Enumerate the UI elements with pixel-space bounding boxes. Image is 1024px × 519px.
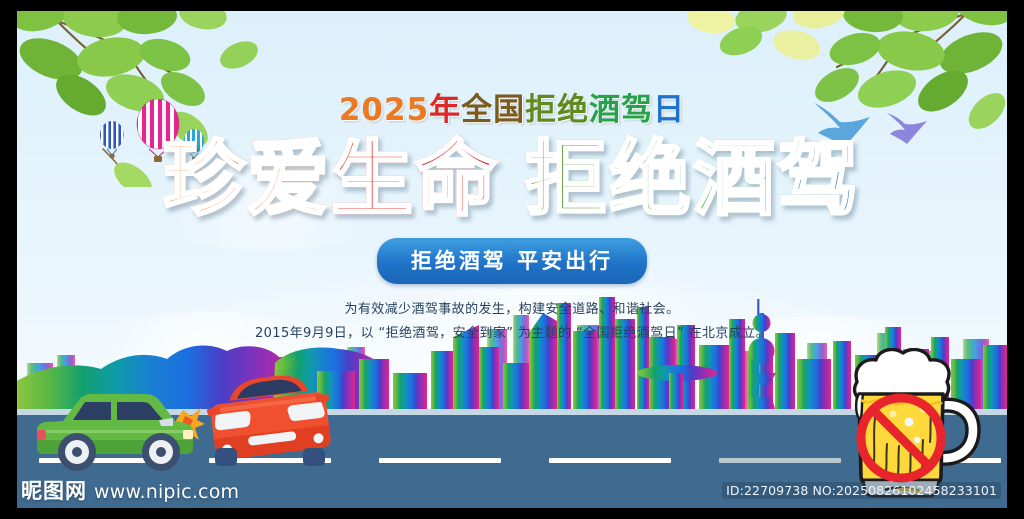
lane-marking: [719, 458, 841, 463]
year-seg-3: 拒绝: [525, 95, 589, 126]
poster-frame: 2025年全国拒绝酒驾日 珍爱生命拒绝酒驾 拒绝酒驾 平安出行 为有效减少酒驾事…: [0, 0, 1024, 519]
body-paragraph: 为有效减少酒驾事故的发生，构建安全道路、和谐社会。 2015年9月9日，以 “拒…: [17, 298, 1007, 346]
watermark-left: 昵图网 www.nipic.com: [21, 481, 239, 502]
red-car: [207, 374, 335, 474]
beer-mug-no-drink: [833, 348, 987, 498]
year-seg-0: 2025: [339, 95, 429, 126]
poster-canvas: 2025年全国拒绝酒驾日 珍爱生命拒绝酒驾 拒绝酒驾 平安出行 为有效减少酒驾事…: [17, 11, 1007, 508]
slogan-badge: 拒绝酒驾 平安出行: [377, 238, 647, 284]
main-title-part-a: 珍爱生命: [163, 132, 499, 227]
lane-marking: [549, 458, 671, 463]
lane-marking: [379, 458, 501, 463]
year-seg-5: 日: [653, 95, 685, 126]
headline-block: 2025年全国拒绝酒驾日 珍爱生命拒绝酒驾 拒绝酒驾 平安出行 为有效减少酒驾事…: [17, 95, 1007, 346]
green-car: [33, 386, 205, 472]
year-seg-4: 酒驾: [589, 95, 653, 126]
body-line-1: 为有效减少酒驾事故的发生，构建安全道路、和谐社会。: [17, 298, 1007, 322]
body-line-2: 2015年9月9日，以 “拒绝酒驾，安全到家” 为主题的 “全国拒绝酒驾日” 在…: [17, 322, 1007, 346]
main-title-part-b: 拒绝酒驾: [525, 132, 861, 227]
site-url: www.nipic.com: [94, 483, 239, 502]
main-title: 珍爱生命拒绝酒驾: [17, 138, 1007, 222]
site-name-cn: 昵图网: [21, 481, 87, 502]
year-seg-1: 年: [429, 95, 461, 126]
year-seg-2: 全国: [461, 95, 525, 126]
year-title: 2025年全国拒绝酒驾日: [17, 95, 1007, 126]
image-id-text: ID:22709738 NO:20250826102458233101: [722, 482, 1001, 499]
